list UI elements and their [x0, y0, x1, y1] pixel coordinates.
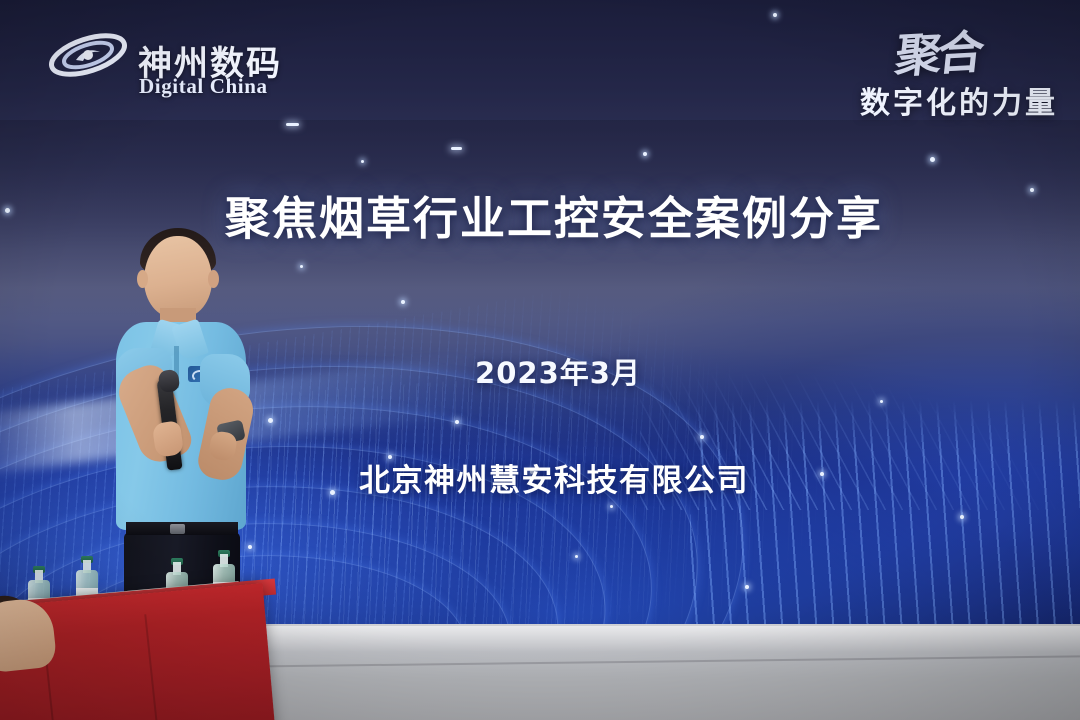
light-particle — [268, 418, 273, 423]
light-particle — [300, 265, 303, 268]
light-particle — [401, 300, 405, 304]
light-particle — [745, 585, 749, 589]
light-particle — [960, 515, 964, 519]
brand-logo: 神州数码 Digital China — [46, 16, 306, 94]
event-slogan: 聚合 数字化的力量 — [860, 18, 1058, 122]
light-particle — [451, 147, 462, 150]
screen-fiber-bundle — [690, 400, 1080, 640]
light-particle — [575, 555, 578, 558]
brand-name-en: Digital China — [139, 74, 268, 99]
light-particle — [773, 13, 777, 17]
light-particle — [880, 400, 883, 403]
speaker-ear-right — [208, 270, 219, 288]
speaker-head — [144, 236, 212, 318]
slogan-subtitle: 数字化的力量 — [860, 78, 1058, 122]
light-particle — [361, 160, 364, 163]
light-particle — [610, 505, 613, 508]
light-particle — [286, 123, 299, 126]
conference-stage-photo: 神州数码 Digital China 聚合 数字化的力量 聚焦烟草行业工控安全案… — [0, 0, 1080, 720]
speaker-ear-left — [137, 270, 148, 288]
slogan-calligraphy: 聚合 — [892, 16, 984, 86]
light-particle — [643, 152, 647, 156]
swirl-galaxy-logo-icon — [46, 24, 130, 86]
speaker-belt-buckle — [170, 524, 185, 534]
light-particle — [700, 435, 704, 439]
light-particle — [930, 157, 935, 162]
light-particle — [455, 420, 459, 424]
